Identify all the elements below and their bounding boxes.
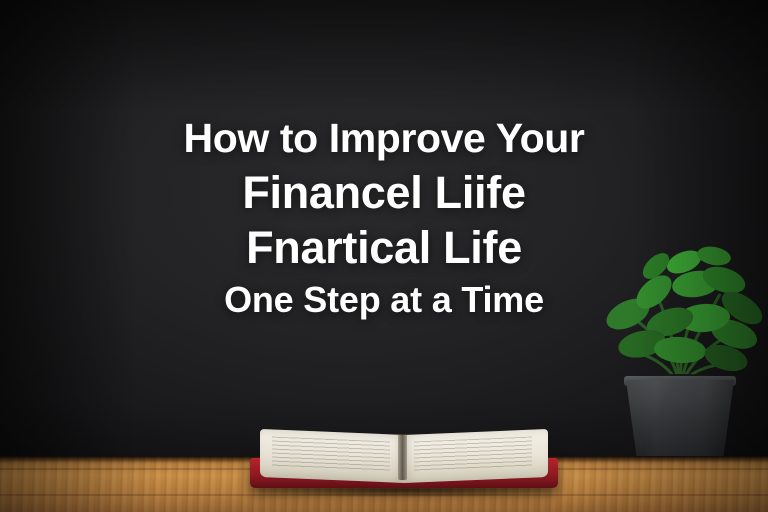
table-shadow-left (0, 456, 160, 512)
book-text-lines-left (272, 437, 390, 472)
book-text-lines-right (414, 437, 532, 472)
headline-line-1: How to Improve Your (0, 118, 768, 170)
table-shadow-right (568, 456, 768, 512)
open-book (248, 432, 560, 492)
headline-line-2: Financel Liife (0, 170, 768, 225)
book-spine (398, 434, 407, 480)
potted-plant (584, 222, 768, 490)
scene-container: How to Improve Your Financel Liife Fnart… (0, 0, 768, 512)
